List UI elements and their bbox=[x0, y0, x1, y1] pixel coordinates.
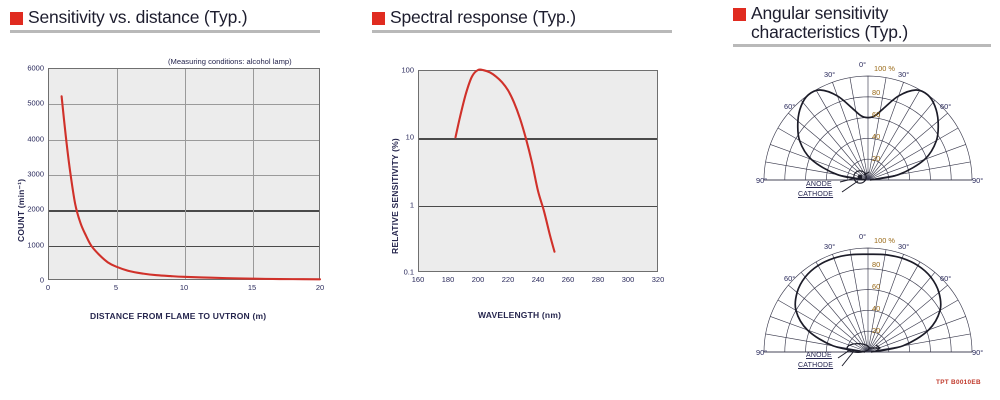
chart1-y-tick: 5000 bbox=[6, 99, 44, 108]
chart2-x-tick: 200 bbox=[472, 275, 485, 284]
chart2-x-axis-label: WAVELENGTH (nm) bbox=[478, 310, 561, 320]
polar1-radial-label: 20 bbox=[872, 154, 880, 163]
panel-title-sensitivity: Sensitivity vs. distance (Typ.) bbox=[28, 8, 247, 27]
polar1-radial-label: 100 % bbox=[874, 64, 895, 73]
chart2-x-tick: 300 bbox=[622, 275, 635, 284]
panel-title-angular-line2: characteristics (Typ.) bbox=[751, 23, 908, 42]
polar2-cathode-label: CATHODE bbox=[798, 362, 833, 369]
chart2-curve-layer bbox=[418, 70, 658, 272]
polar2-radial-label: 20 bbox=[872, 326, 880, 335]
document-code: TPT B0010EB bbox=[936, 379, 981, 386]
polar1-angle-label: 30° bbox=[898, 70, 909, 79]
polar1-angle-label: 60° bbox=[784, 102, 795, 111]
chart2-x-tick: 260 bbox=[562, 275, 575, 284]
chart2-x-tick: 280 bbox=[592, 275, 605, 284]
polar2-tube-symbol bbox=[836, 340, 890, 372]
chart2-y-tick: 100 bbox=[388, 66, 414, 75]
chart2-x-tick: 320 bbox=[652, 275, 665, 284]
chart2-x-tick: 240 bbox=[532, 275, 545, 284]
panel-header-angular: Angular sensitivity characteristics (Typ… bbox=[733, 4, 991, 47]
bullet-square-icon bbox=[733, 8, 746, 21]
polar1-cathode-label: CATHODE bbox=[798, 191, 833, 198]
polar1-angle-label: 90° bbox=[756, 176, 767, 185]
header-rule bbox=[10, 30, 320, 33]
chart1-data-curve bbox=[62, 96, 320, 279]
polar1-angle-label: 30° bbox=[824, 70, 835, 79]
polar2-angle-label: 60° bbox=[784, 274, 795, 283]
polar2-angle-label: 30° bbox=[824, 242, 835, 251]
chart1-annotation: (Measuring conditions: alcohol lamp) bbox=[168, 57, 292, 66]
header-rule bbox=[733, 44, 991, 47]
polar1-angle-label: 60° bbox=[940, 102, 951, 111]
chart1-y-tick: 2000 bbox=[6, 205, 44, 214]
polar1-anode-label: ANODE bbox=[806, 181, 832, 188]
bullet-square-icon bbox=[372, 12, 385, 25]
bullet-square-icon bbox=[10, 12, 23, 25]
chart2-y-tick: 1 bbox=[388, 200, 414, 209]
chart1-x-tick: 0 bbox=[46, 283, 50, 292]
chart1-y-tick: 1000 bbox=[6, 240, 44, 249]
panel-header-spectral: Spectral response (Typ.) bbox=[372, 8, 672, 33]
polar1-radial-label: 40 bbox=[872, 132, 880, 141]
chart1-x-axis-label: DISTANCE FROM FLAME TO UVTRON (m) bbox=[90, 311, 266, 321]
chart2-y-tick: 0.1 bbox=[388, 268, 414, 277]
polar1-angle-label: 0° bbox=[859, 60, 866, 69]
chart1-x-tick: 15 bbox=[248, 283, 256, 292]
polar1-radial-label: 60 bbox=[872, 110, 880, 119]
chart2-x-tick: 180 bbox=[442, 275, 455, 284]
polar2-radial-label: 80 bbox=[872, 260, 880, 269]
polar1-angle-label: 90° bbox=[972, 176, 983, 185]
header-rule bbox=[372, 30, 672, 33]
polar2-angle-label: 90° bbox=[972, 348, 983, 357]
chart2-y-tick: 10 bbox=[388, 133, 414, 142]
chart2-x-tick: 160 bbox=[412, 275, 425, 284]
chart1-y-tick: 6000 bbox=[6, 64, 44, 73]
chart1-y-tick: 3000 bbox=[6, 170, 44, 179]
polar2-radial-label: 40 bbox=[872, 304, 880, 313]
chart1-y-tick: 0 bbox=[6, 276, 44, 285]
chart1-y-tick: 4000 bbox=[6, 134, 44, 143]
polar1-tube-symbol bbox=[838, 168, 886, 202]
polar2-anode-label: ANODE bbox=[806, 352, 832, 359]
chart2-data-curve bbox=[456, 70, 555, 252]
panel-title-spectral: Spectral response (Typ.) bbox=[390, 8, 576, 27]
chart2-y-axis-label: RELATIVE SENSITIVITY (%) bbox=[390, 138, 400, 254]
chart2-x-tick: 220 bbox=[502, 275, 515, 284]
panel-title-angular-line1: Angular sensitivity bbox=[751, 4, 908, 23]
polar2-angle-label: 0° bbox=[859, 232, 866, 241]
chart1-x-tick: 10 bbox=[180, 283, 188, 292]
polar1-radial-label: 80 bbox=[872, 88, 880, 97]
panel-header-sensitivity: Sensitivity vs. distance (Typ.) bbox=[10, 8, 320, 33]
chart1-curve-layer bbox=[48, 68, 320, 280]
polar2-angle-label: 90° bbox=[756, 348, 767, 357]
datasheet-figure-sheet: Sensitivity vs. distance (Typ.) Spectral… bbox=[0, 0, 1000, 400]
polar2-angle-label: 60° bbox=[940, 274, 951, 283]
chart1-x-tick: 20 bbox=[316, 283, 324, 292]
polar2-angle-label: 30° bbox=[898, 242, 909, 251]
polar2-radial-label: 60 bbox=[872, 282, 880, 291]
chart1-x-tick: 5 bbox=[114, 283, 118, 292]
polar2-radial-label: 100 % bbox=[874, 236, 895, 245]
